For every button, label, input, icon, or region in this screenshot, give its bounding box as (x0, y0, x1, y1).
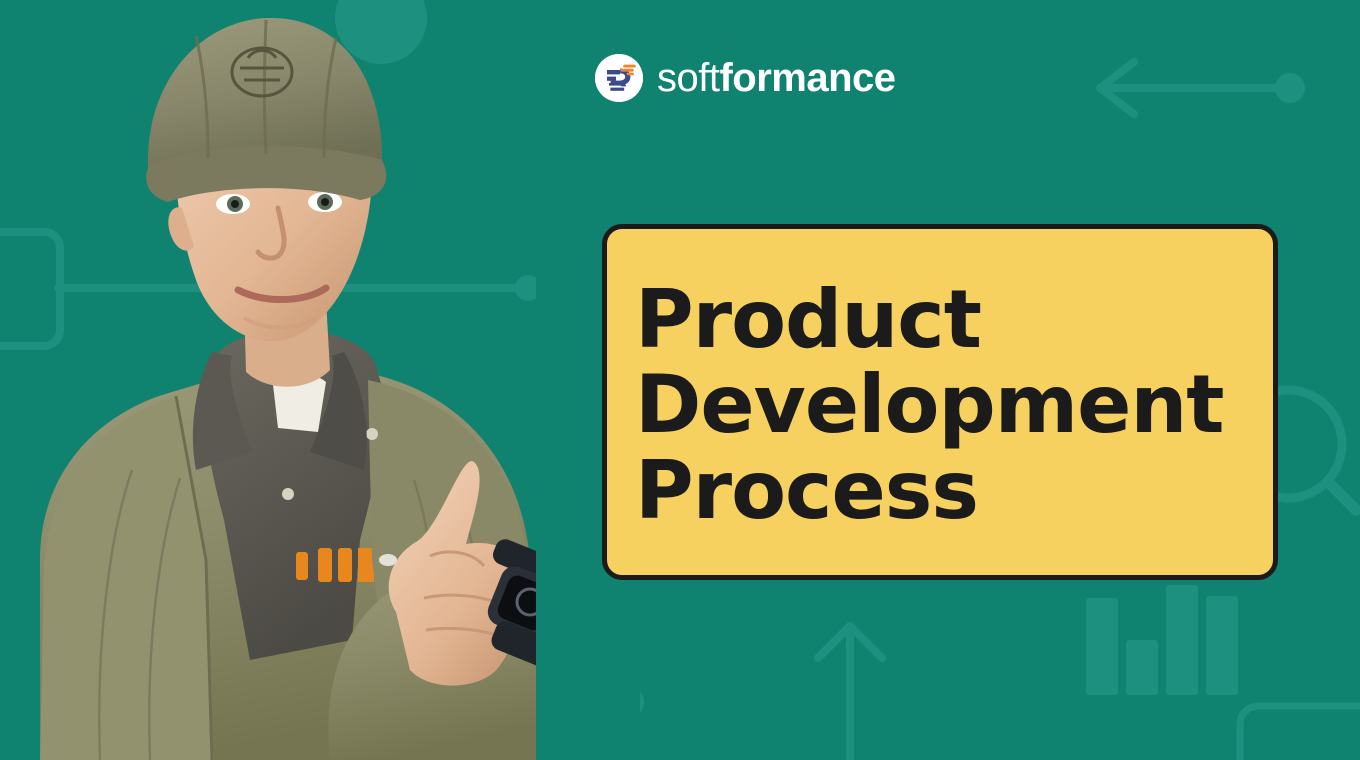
brand-wordmark: softformance (657, 58, 896, 98)
title-line-1: Product (635, 277, 1245, 363)
magnifier-handle-icon (1328, 482, 1356, 510)
slide-canvas: softformance Product Development Process (0, 0, 1360, 760)
arrow-left-tail-dot-icon (1275, 73, 1305, 103)
rounded-rect-outline-bottom-right-icon (1240, 706, 1360, 760)
wordmark-bold-part: formance (719, 58, 895, 98)
bar-chart-icon (1086, 585, 1238, 695)
title-panel: Product Development Process (602, 224, 1278, 580)
title-line-2: Development (635, 362, 1245, 448)
softformance-s-mark-icon (595, 54, 643, 102)
brand-logo-lockup[interactable]: softformance (595, 50, 896, 106)
finger-ring (379, 554, 397, 566)
presenter-photo (0, 0, 640, 760)
page-title: Product Development Process (635, 277, 1245, 534)
presenter-photo-illustration (0, 0, 640, 760)
title-line-3: Process (635, 448, 1245, 534)
wordmark-light-part: soft (657, 58, 719, 98)
